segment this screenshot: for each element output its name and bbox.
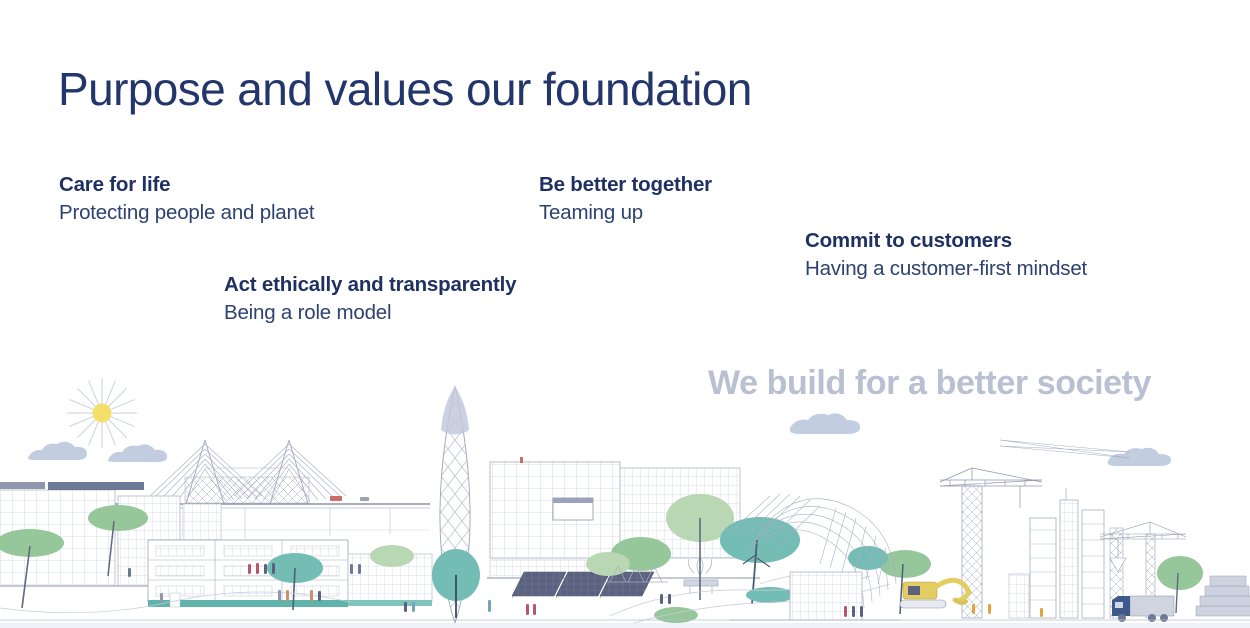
value-heading: Care for life <box>59 173 314 197</box>
fountain <box>684 558 718 594</box>
ground-line <box>0 620 1250 628</box>
value-block-be-better-together: Be better together Teaming up <box>539 173 712 225</box>
excavator <box>900 580 969 608</box>
value-block-care-for-life: Care for life Protecting people and plan… <box>59 173 314 225</box>
material-stacks <box>1196 576 1250 616</box>
value-block-act-ethically: Act ethically and transparently Being a … <box>224 273 516 325</box>
value-subtitle: Teaming up <box>539 201 712 225</box>
value-subtitle: Protecting people and planet <box>59 201 314 225</box>
third-crane-jib <box>1000 440 1130 458</box>
page-title: Purpose and values our foundation <box>58 62 752 116</box>
value-heading: Commit to customers <box>805 229 1087 253</box>
solar-panel-array <box>512 572 654 598</box>
city-skyline-illustration <box>0 368 1250 628</box>
sun-with-rays <box>67 378 137 448</box>
high-tech-towers <box>1009 488 1123 618</box>
sun-disc <box>93 404 112 423</box>
value-subtitle: Having a customer-first mindset <box>805 257 1087 281</box>
value-heading: Be better together <box>539 173 712 197</box>
value-heading: Act ethically and transparently <box>224 273 516 297</box>
value-subtitle: Being a role model <box>224 301 516 325</box>
delivery-truck <box>1112 596 1174 622</box>
value-block-commit-to-customers: Commit to customers Having a customer-fi… <box>805 229 1087 281</box>
